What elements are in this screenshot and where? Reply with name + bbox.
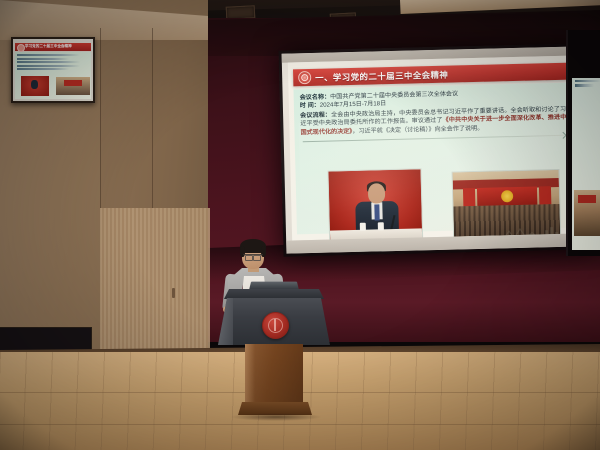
lecture-hall-scene: 学习党的二十届三中全会精神	[0, 0, 600, 450]
field-value: 2024年7月15日-7月18日	[320, 101, 387, 111]
lectern-column-highlight	[245, 344, 255, 404]
screen-frame: 一、学习党的二十届三中全会精神 会议名称： 中国共产党第二十届中央委员会第三次全…	[279, 43, 590, 256]
lectern-shadow	[230, 413, 322, 421]
cup-icon	[378, 222, 384, 230]
field-label: 时 间：	[300, 102, 320, 111]
left-monitor-slide-body	[15, 52, 91, 99]
plenary-hall-photo-thumb	[56, 77, 90, 95]
eyeglasses-icon	[243, 254, 263, 260]
left-wall-monitor[interactable]: 学习党的二十届三中全会精神	[11, 37, 95, 103]
party-seal-icon	[17, 44, 25, 52]
right-wall-monitor[interactable]	[566, 30, 600, 256]
wall-door-handle-icon	[172, 288, 175, 298]
right-monitor-screen	[572, 78, 600, 250]
figure-tie	[374, 204, 379, 220]
plenary-hall-photo-thumb	[574, 190, 600, 236]
left-monitor-slide: 学习党的二十届三中全会精神	[13, 39, 93, 101]
process-label: 会议流程：	[300, 111, 331, 119]
left-monitor-screen: 学习党的二十届三中全会精神	[13, 39, 93, 101]
text-line	[17, 65, 80, 67]
lectern-top	[224, 289, 324, 299]
slide-process-paragraph: 会议流程：全会由中央政治局主持，中央委员会总书记习近平作了重要讲话。全会听取和讨…	[300, 106, 567, 138]
floor-seam	[0, 424, 600, 425]
slide-content-panel: 会议名称： 中国共产党第二十届中央委员会第三次全体会议 时 间： 2024年7月…	[293, 83, 574, 235]
left-monitor-slide-title: 学习党的二十届三中全会精神	[25, 44, 72, 49]
figure-head	[368, 183, 385, 203]
text-line	[575, 80, 600, 82]
left-monitor-slide-titlebar: 学习党的二十届三中全会精神	[15, 43, 91, 51]
text-line	[17, 58, 69, 60]
lectern-side	[218, 298, 233, 345]
wood-slat-panel	[100, 208, 210, 368]
text-line	[17, 61, 80, 63]
presentation-slide: 一、学习党的二十届三中全会精神 会议名称： 中国共产党第二十届中央委员会第三次全…	[282, 46, 587, 253]
process-text-part2: ，习近平就《决定（讨论稿）》向全会作了说明。	[352, 125, 483, 135]
text-line	[17, 54, 80, 56]
party-seal-icon	[298, 71, 311, 84]
text-line	[575, 84, 594, 86]
text-line	[17, 68, 69, 70]
projection-screen[interactable]: 一、学习党的二十届三中全会精神 会议名称： 中国共产党第二十届中央委员会第三次全…	[279, 43, 590, 256]
slide-title-text: 一、学习党的二十届三中全会精神	[315, 68, 448, 83]
lectern[interactable]	[218, 289, 330, 424]
slide-canvas: 一、学习党的二十届三中全会精神 会议名称： 中国共产党第二十届中央委员会第三次全…	[288, 56, 580, 241]
university-seal-emblem-icon	[262, 312, 289, 339]
cup-icon	[360, 223, 366, 231]
xi-speech-photo	[327, 168, 423, 244]
left-monitor-photos	[18, 76, 88, 96]
xi-speech-photo-thumb	[21, 76, 49, 96]
